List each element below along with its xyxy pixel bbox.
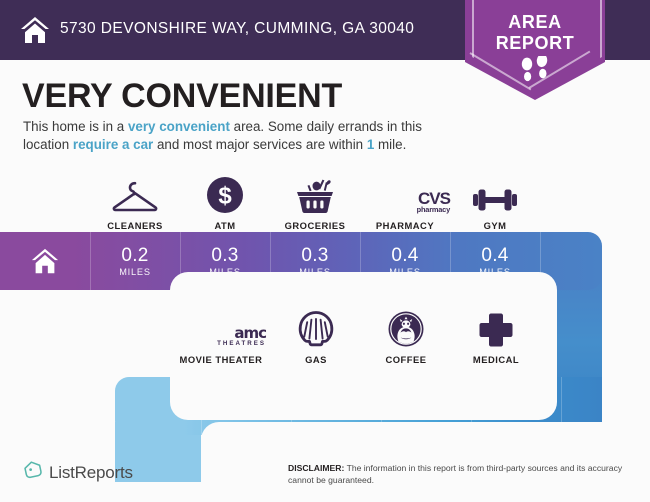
distance-value: 0.3 <box>301 245 328 266</box>
disclaimer-label: DISCLAIMER: <box>288 463 344 473</box>
poi-cleaners: CLEANERS <box>90 176 180 231</box>
poi-coffee: COFFEE <box>361 310 451 365</box>
svg-text:$: $ <box>218 183 232 210</box>
amc-sub-wordmark: THEATRES <box>217 340 266 348</box>
distance-unit: MILES <box>119 267 151 277</box>
poi-gas: GAS <box>271 310 361 365</box>
poi-label: MOVIE THEATER <box>176 354 266 365</box>
poi-label: CLEANERS <box>90 220 180 231</box>
amc-theatres-logo: amc THEATRES <box>176 310 266 348</box>
home-marker-icon <box>30 246 60 281</box>
cvs-sub-wordmark: pharmacy <box>417 206 450 214</box>
distance-value: 0.2 <box>121 245 148 266</box>
poi-medical: MEDICAL <box>451 310 541 365</box>
footprints-icon <box>465 56 605 91</box>
badge-title: AREA REPORT <box>465 12 605 54</box>
medical-cross-icon <box>451 310 541 348</box>
property-address: 5730 DEVONSHIRE WAY, CUMMING, GA 30040 <box>60 20 414 38</box>
poi-groceries: GROCERIES <box>270 176 360 231</box>
listreports-logo: ListReports <box>23 460 133 485</box>
badge-title-line2: REPORT <box>465 33 605 54</box>
poi-pharmacy: CVS pharmacy PHARMACY <box>360 176 450 231</box>
listreports-tag-icon <box>23 460 43 485</box>
poi-movie-theater: amc THEATRES MOVIE THEATER <box>176 310 266 365</box>
poi-label: GYM <box>450 220 540 231</box>
distance-cell-cleaners: 0.2 MILES <box>90 232 180 290</box>
poi-label: GROCERIES <box>270 220 360 231</box>
poi-label: COFFEE <box>361 354 451 365</box>
footer-cutout <box>201 422 650 502</box>
amc-wordmark: amc <box>234 326 266 340</box>
disclaimer: DISCLAIMER: The information in this repo… <box>288 463 638 486</box>
badge-title-line1: AREA <box>465 12 605 33</box>
poi-label: MEDICAL <box>451 354 541 365</box>
distance-value: 0.4 <box>391 245 418 266</box>
description-text: This home is in a very convenient area. … <box>23 118 463 154</box>
distance-value: 0.4 <box>481 245 508 266</box>
poi-label: PHARMACY <box>360 220 450 231</box>
desc-part-1: This home is in a <box>23 119 128 134</box>
poi-label: ATM <box>180 220 270 231</box>
cvs-pharmacy-logo: CVS pharmacy <box>360 176 450 214</box>
poi-label: GAS <box>271 354 361 365</box>
grocery-basket-icon <box>270 176 360 214</box>
distance-value: 0.3 <box>211 245 238 266</box>
dumbbell-icon <box>450 176 540 214</box>
desc-part-3: and most major services are within <box>153 137 367 152</box>
dollar-coin-icon: $ <box>180 176 270 214</box>
hanger-icon <box>90 176 180 214</box>
area-report-infographic: 5730 DEVONSHIRE WAY, CUMMING, GA 30040 A… <box>0 0 650 502</box>
poi-atm: $ ATM <box>180 176 270 231</box>
shell-logo <box>271 310 361 348</box>
starbucks-logo <box>361 310 451 348</box>
cvs-wordmark: CVS <box>418 191 450 206</box>
desc-highlight-2: require a car <box>73 137 153 152</box>
home-icon <box>19 14 51 46</box>
page-title: VERY CONVENIENT <box>22 77 342 116</box>
listreports-wordmark: ListReports <box>49 463 133 483</box>
poi-gym: GYM <box>450 176 540 231</box>
desc-part-4: mile. <box>374 137 406 152</box>
desc-highlight-1: very convenient <box>128 119 230 134</box>
